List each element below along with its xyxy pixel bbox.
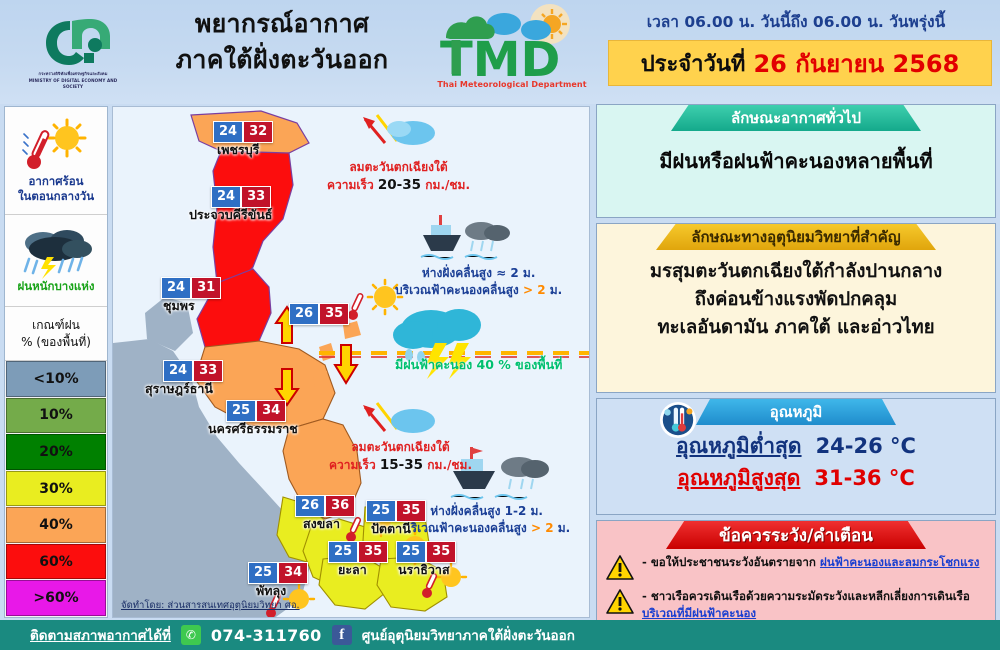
page-title: พยากรณ์อากาศ ภาคใต้ฝั่งตะวันออก	[132, 6, 432, 79]
footer-facebook-page[interactable]: ศูนย์อุตุนิยมวิทยาภาคใต้ฝั่งตะวันออก	[362, 624, 575, 646]
province-label: เพชรบุรี	[217, 140, 259, 160]
warning-triangle-icon	[605, 588, 635, 615]
wind-north-line2: ความเร็ว 20-35 กม./ชม.	[327, 176, 470, 196]
warning-text-2: - ชาวเรือควรเดินเรือด้วยความระมัดระวังแล…	[642, 588, 970, 623]
annotation-wind-south: ลมตะวันตกเฉียงใต้ ความเร็ว 15-35 กม./ชม.	[329, 439, 472, 476]
panel-general-text: มีฝนหรือฝนฟ้าคะนองหลายพื้นที่	[597, 131, 995, 193]
warning-text-1: - ขอให้ประชาชนระวังอันตรายจาก ฝนฟ้าคะนอง…	[642, 554, 979, 571]
province-label: ปัตตานี	[371, 519, 411, 539]
title-line-2: ภาคใต้ฝั่งตะวันออก	[132, 42, 432, 78]
wave-north-gt: > 2	[523, 283, 546, 297]
temp-high: 35	[396, 500, 426, 522]
temp-min-value: 24-26 °C	[816, 431, 916, 463]
legend-heavy-rain: ฝนหนักบางแห่ง	[5, 215, 107, 307]
temp-low: 24	[163, 360, 193, 382]
wind-south-line2: ความเร็ว 15-35 กม./ชม.	[329, 456, 472, 476]
temp-low: 25	[248, 562, 278, 584]
panel-temperature-body: อุณหภูมิต่ำสุด 24-26 °C อุณหภูมิสูงสุด 3…	[597, 425, 995, 504]
legend-swatch[interactable]: <10%	[6, 361, 106, 397]
legend-swatch[interactable]: 30%	[6, 471, 106, 507]
wind-arrow-icon-south	[363, 403, 435, 433]
warning-triangle-icon	[605, 554, 635, 581]
annotation-wave-south: ห่างฝั่งคลื่นสูง 1-2 ม. บริเวณฟ้าคะนองคล…	[403, 503, 570, 538]
temp-high: 34	[256, 400, 286, 422]
temp-low: 24	[161, 277, 191, 299]
legend-swatch[interactable]: 10%	[6, 398, 106, 434]
temp-badge[interactable]: 2534	[226, 400, 286, 422]
legend-hot-weather: อากาศร้อน ในตอนกลางวัน	[5, 107, 107, 215]
tmd-logo-icon: TMD	[432, 4, 592, 86]
wave-north-line2: บริเวณฟ้าคะนองคลื่นสูง > 2 ม.	[395, 282, 562, 299]
thunder-area-text: มีฝนฟ้าคะนอง 40 % ของพื้นที่	[395, 355, 562, 375]
wind-north-speed: 20-35	[378, 177, 421, 193]
temp-low: 24	[213, 121, 243, 143]
province-label: สุราษฎร์ธานี	[145, 379, 213, 399]
weather-forecast-infographic: กระทรวงดิจิทัลเพื่อเศรษฐกิจและสังคม MINI…	[0, 0, 1000, 650]
wave-south-line1: ห่างฝั่งคลื่นสูง 1-2 ม.	[403, 503, 570, 520]
warning-link-2[interactable]: บริเวณที่มีฝนฟ้าคะนอง	[642, 606, 756, 620]
temp-low: 25	[328, 541, 358, 563]
footer-follow-label: ติดตามสภาพอากาศได้ที่	[30, 624, 171, 646]
panel-warnings: ข้อควรระวัง/คำเตือน - ขอให้ประชาชนระวังอ…	[596, 520, 996, 625]
wind-south-speed: 15-35	[380, 457, 423, 473]
warning-item: - ชาวเรือควรเดินเรือด้วยความระมัดระวังแล…	[597, 583, 995, 625]
panel-meteorology-title: ลักษณะทางอุตุนิยมวิทยาที่สำคัญ	[656, 224, 936, 250]
legend-panel: อากาศร้อน ในตอนกลางวัน ฝนหนักบางแห่ง เกณ…	[4, 106, 108, 618]
warning-item: - ขอให้ประชาชนระวังอันตรายจาก ฝนฟ้าคะนอง…	[597, 549, 995, 583]
province-label: พัทลุง	[256, 581, 286, 601]
temp-badge-inland[interactable]: 26 35	[289, 303, 349, 325]
annotation-wind-north: ลมตะวันตกเฉียงใต้ ความเร็ว 20-35 กม./ชม.	[327, 159, 470, 196]
temp-low: 25	[366, 500, 396, 522]
temp-max-value: 31-36 °C	[814, 463, 914, 495]
temp-high: 33	[241, 186, 271, 208]
forecast-date-band: ประจำวันที่ 26 กันยายน 2568	[608, 40, 992, 86]
ministry-emblem-icon	[36, 17, 110, 69]
wave-south-gt: > 2	[531, 521, 554, 535]
forecast-map[interactable]: 2432เพชรบุรี2433ประจวบคีรีขันธ์2431ชุมพร…	[112, 106, 590, 618]
province-label: ชุมพร	[163, 296, 195, 316]
temp-low: 26	[295, 495, 325, 517]
legend-scale-header: เกณฑ์ฝน % (ของพื้นที่)	[5, 307, 107, 361]
wind-south-line1: ลมตะวันตกเฉียงใต้	[329, 439, 472, 456]
annotation-thunder-area: มีฝนฟ้าคะนอง 40 % ของพื้นที่	[395, 355, 562, 375]
legend-scale-line1: เกณฑ์ฝน	[32, 317, 80, 333]
temp-badge[interactable]: 2431	[161, 277, 221, 299]
sun-icon-inland-1	[348, 280, 402, 320]
province-label: ประจวบคีรีขันธ์	[189, 205, 272, 225]
panel-warnings-title: ข้อควรระวัง/คำเตือน	[666, 521, 926, 549]
legend-rain-label: ฝนหนักบางแห่ง	[18, 279, 95, 293]
meteo-line-1: มรสุมตะวันตกเฉียงใต้กำลังปานกลาง	[601, 258, 991, 286]
facebook-icon[interactable]: f	[332, 625, 352, 645]
temp-high: 31	[191, 277, 221, 299]
boat-rain-icon-north	[421, 215, 510, 259]
temp-high: 35	[358, 541, 388, 563]
panel-general-weather: ลักษณะอากาศทั่วไป มีฝนหรือฝนฟ้าคะนองหลาย…	[596, 104, 996, 218]
temp-max-row: อุณหภูมิสูงสุด 31-36 °C	[601, 463, 991, 495]
legend-hot-line1: อากาศร้อน	[28, 174, 83, 188]
heavy-rain-cloud-icon	[17, 227, 95, 279]
date-label: ประจำวันที่	[641, 46, 746, 81]
tmd-subtitle: Thai Meteorological Department	[432, 80, 592, 89]
header: กระทรวงดิจิทัลเพื่อเศรษฐกิจและสังคม MINI…	[0, 0, 1000, 104]
temp-badge[interactable]: 2535	[328, 541, 388, 563]
province-label: ยะลา	[338, 560, 367, 580]
thermometer-icon	[659, 401, 697, 439]
panel-temperature-title: อุณหภูมิ	[696, 399, 896, 425]
legend-swatch[interactable]: 20%	[6, 434, 106, 470]
province-label: สงขลา	[303, 514, 340, 534]
meteo-line-2: ถึงค่อนข้างแรงพัดปกคลุม	[601, 286, 991, 314]
temp-high: 35	[319, 303, 349, 325]
footer: ติดตามสภาพอากาศได้ที่ ✆ 074-311760 f ศูน…	[0, 620, 1000, 650]
temp-low: 25	[396, 541, 426, 563]
ministry-logo: กระทรวงดิจิทัลเพื่อเศรษฐกิจและสังคม MINI…	[18, 10, 128, 96]
panel-meteorology: ลักษณะทางอุตุนิยมวิทยาที่สำคัญ มรสุมตะวั…	[596, 223, 996, 393]
ministry-name-th: กระทรวงดิจิทัลเพื่อเศรษฐกิจและสังคม	[38, 71, 107, 77]
temp-badge[interactable]: 2535	[396, 541, 456, 563]
temp-low: 26	[289, 303, 319, 325]
phone-icon[interactable]: ✆	[181, 625, 201, 645]
temp-badge[interactable]: 2432	[213, 121, 273, 143]
arrow-down-icon-2	[335, 345, 357, 383]
legend-swatch[interactable]: 40%	[6, 507, 106, 543]
temp-badge[interactable]: 2535	[366, 500, 426, 522]
province-label: นครศรีธรรมราช	[208, 419, 298, 439]
wave-north-line1: ห่างฝั่งคลื่นสูง ≈ 2 ม.	[395, 265, 562, 282]
temp-low: 25	[226, 400, 256, 422]
temp-badge[interactable]: 2433	[211, 186, 271, 208]
legend-swatch[interactable]: 60%	[6, 544, 106, 580]
forecast-time-range: เวลา 06.00 น. วันนี้ถึง 06.00 น. วันพรุ่…	[600, 9, 992, 34]
ministry-name-en: MINISTRY OF DIGITAL ECONOMY AND SOCIETY	[18, 78, 128, 89]
legend-hot-line2: ในตอนกลางวัน	[18, 189, 94, 203]
temp-badge[interactable]: 2534	[248, 562, 308, 584]
legend-swatch[interactable]: >60%	[6, 580, 106, 616]
sun-thermometer-icon	[21, 118, 91, 174]
temp-high: 33	[193, 360, 223, 382]
temp-high: 36	[325, 495, 355, 517]
temp-high: 34	[278, 562, 308, 584]
panel-meteorology-text: มรสุมตะวันตกเฉียงใต้กำลังปานกลาง ถึงค่อน…	[597, 250, 995, 351]
panel-general-title: ลักษณะอากาศทั่วไป	[671, 105, 921, 131]
meteo-line-3: ทะเลอันดามัน ภาคใต้ และอ่าวไทย	[601, 314, 991, 342]
temp-badge[interactable]: 2433	[163, 360, 223, 382]
date-value: 26 กันยายน 2568	[753, 44, 959, 83]
province-label: นราธิวาส	[398, 560, 450, 580]
panel-temperature: อุณหภูมิ อุณหภูมิต่ำสุด 24-26 °C อุณหภูม…	[596, 398, 996, 515]
legend-swatch-list: <10% 10% 20% 30% 40% 60% >60%	[5, 361, 107, 617]
temp-low: 24	[211, 186, 241, 208]
temp-high: 32	[243, 121, 273, 143]
wave-south-line2: บริเวณฟ้าคะนองคลื่นสูง > 2 ม.	[403, 520, 570, 537]
footer-phone[interactable]: 074-311760	[211, 626, 322, 645]
temp-badge[interactable]: 2636	[295, 495, 355, 517]
temp-high: 35	[426, 541, 456, 563]
legend-scale-line2: % (ของพื้นที่)	[21, 334, 91, 350]
wind-north-line1: ลมตะวันตกเฉียงใต้	[327, 159, 470, 176]
right-column: ลักษณะอากาศทั่วไป มีฝนหรือฝนฟ้าคะนองหลาย…	[596, 104, 996, 630]
warning-link-1[interactable]: ฝนฟ้าคะนองและลมกระโชกแรง	[820, 555, 979, 569]
temp-max-label: อุณหภูมิสูงสุด	[677, 463, 800, 495]
annotation-wave-north: ห่างฝั่งคลื่นสูง ≈ 2 ม. บริเวณฟ้าคะนองคล…	[395, 265, 562, 300]
title-line-1: พยากรณ์อากาศ	[132, 6, 432, 42]
wind-arrow-icon-north	[363, 115, 435, 145]
